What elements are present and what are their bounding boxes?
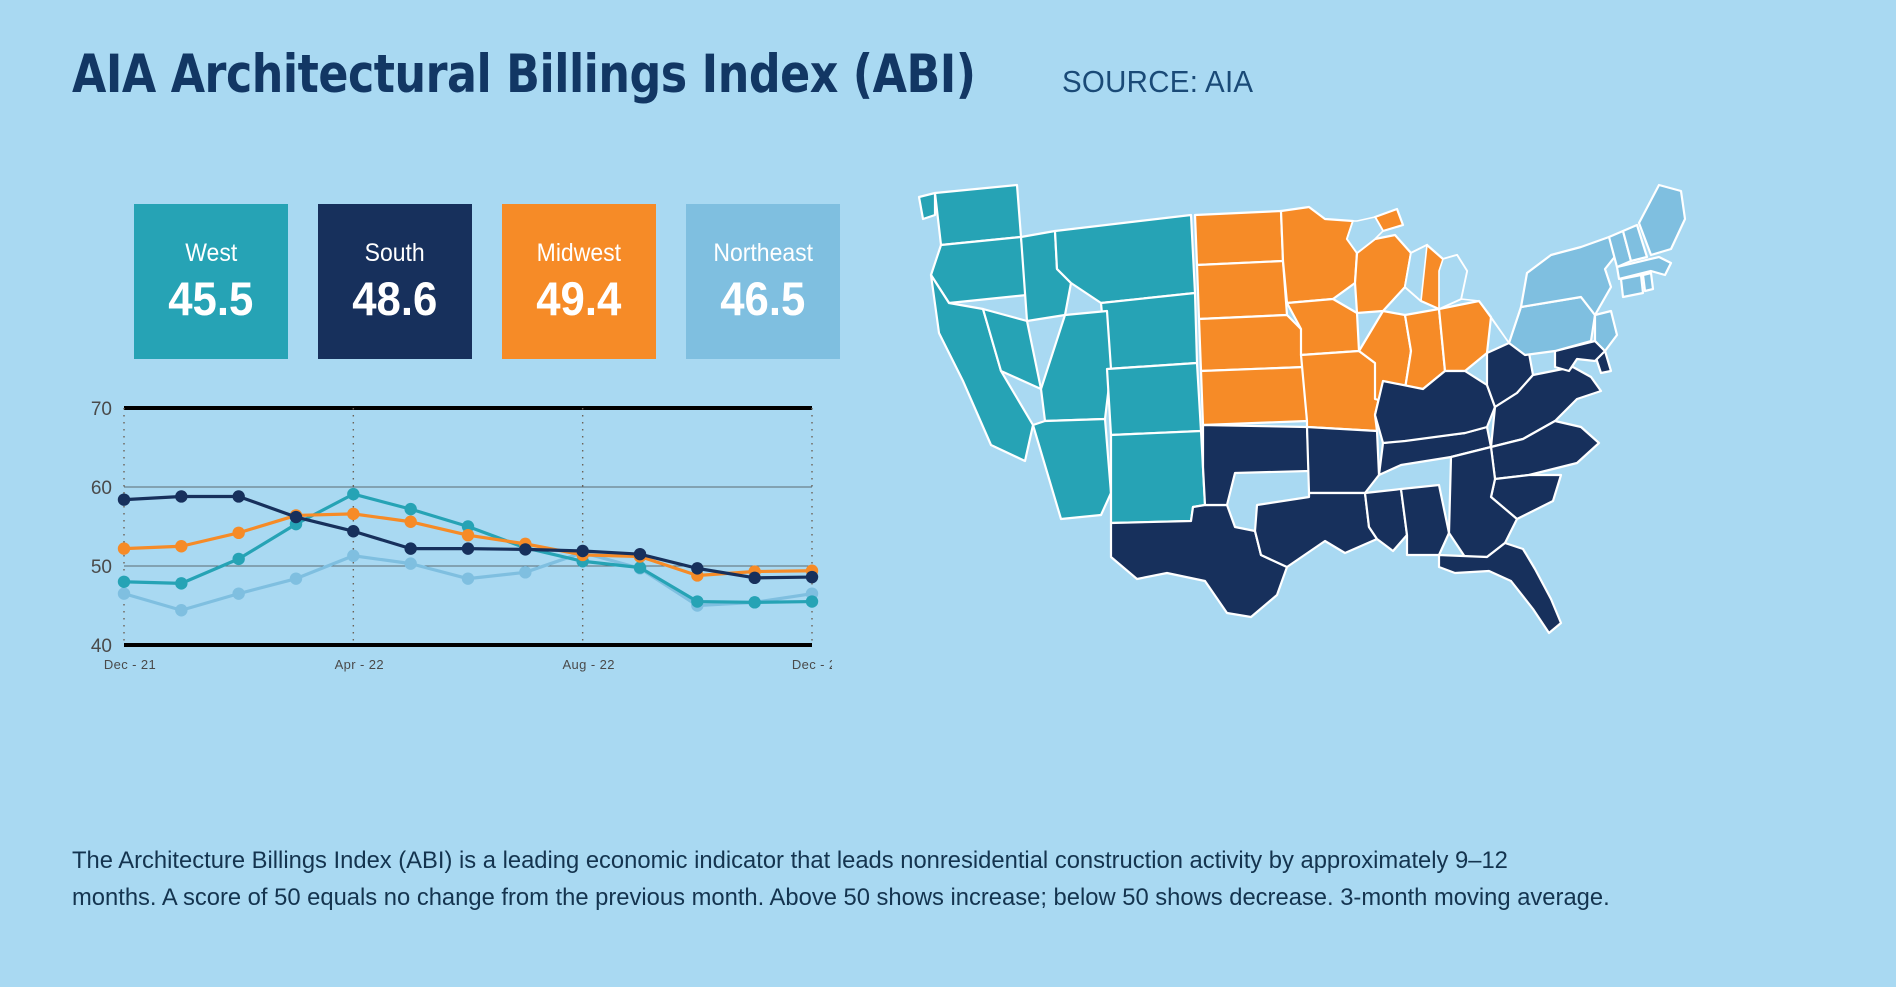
data-point — [232, 527, 244, 539]
data-point — [118, 587, 130, 599]
data-point — [806, 595, 818, 607]
data-point — [404, 503, 416, 515]
map-state-ks — [1201, 367, 1307, 425]
map-state-sd — [1197, 261, 1287, 319]
data-point — [748, 572, 760, 584]
map-state-az — [1033, 419, 1111, 519]
caption-line-1: The Architecture Billings Index (ABI) is… — [72, 843, 1779, 880]
y-axis-tick-label: 70 — [91, 399, 112, 420]
map-state-or — [931, 237, 1027, 303]
x-axis-tick-label: Apr - 22 — [335, 657, 384, 672]
data-point — [404, 516, 416, 528]
map-state-al — [1401, 485, 1449, 555]
data-point — [232, 490, 244, 502]
page-title: AIA Architectural Billings Index (ABI) — [72, 48, 976, 101]
data-point — [462, 529, 474, 541]
data-point — [347, 488, 359, 500]
map-state-nj — [1595, 311, 1617, 351]
data-point — [519, 543, 531, 555]
caption-line-2: months. A score of 50 equals no change f… — [72, 880, 1779, 917]
us-region-map — [905, 175, 1845, 645]
great-lake-3 — [1439, 255, 1467, 309]
map-state-ri — [1643, 273, 1653, 291]
data-point — [347, 550, 359, 562]
data-point — [691, 562, 703, 574]
region-cards: West45.5South48.6Midwest49.4Northeast46.… — [134, 204, 840, 359]
region-card-south: South48.6 — [318, 204, 472, 359]
region-card-west: West45.5 — [134, 204, 288, 359]
map-svg — [905, 175, 1845, 645]
data-point — [462, 542, 474, 554]
region-card-value: 49.4 — [536, 275, 621, 322]
map-state-ne — [1199, 315, 1305, 371]
data-point — [175, 540, 187, 552]
infographic-root: AIA Architectural Billings Index (ABI) S… — [0, 0, 1896, 987]
data-point — [347, 508, 359, 520]
region-card-midwest: Midwest49.4 — [502, 204, 656, 359]
data-point — [462, 572, 474, 584]
data-point — [634, 548, 646, 560]
header: AIA Architectural Billings Index (ABI) S… — [72, 48, 1263, 101]
source-label: SOURCE: AIA — [1062, 66, 1253, 97]
map-state-ok — [1203, 425, 1309, 505]
region-card-value: 48.6 — [352, 275, 437, 322]
data-point — [576, 545, 588, 557]
data-point — [175, 577, 187, 589]
map-state-me — [1639, 185, 1685, 255]
data-point — [290, 511, 302, 523]
region-card-label: Midwest — [537, 241, 621, 266]
region-card-value: 45.5 — [168, 275, 253, 322]
x-axis-tick-label: Aug - 22 — [562, 657, 614, 672]
chart-svg: 40506070Dec - 21Apr - 22Aug - 22Dec - 22 — [72, 390, 832, 700]
data-point — [404, 557, 416, 569]
region-card-label: South — [365, 241, 425, 266]
data-point — [691, 595, 703, 607]
map-state-ut — [1041, 311, 1111, 421]
data-point — [806, 571, 818, 583]
map-state-la — [1255, 493, 1377, 567]
x-axis-tick-label: Dec - 22 — [792, 657, 832, 672]
map-state-fl — [1439, 543, 1561, 633]
region-card-value: 46.5 — [720, 275, 805, 322]
data-point — [118, 542, 130, 554]
region-card-label: Northeast — [713, 241, 813, 266]
y-axis-tick-label: 50 — [91, 557, 112, 578]
map-state-mn — [1281, 207, 1357, 303]
data-point — [118, 493, 130, 505]
x-axis-tick-label: Dec - 21 — [104, 657, 156, 672]
map-state-nd — [1195, 211, 1283, 265]
map-state-oh — [1439, 301, 1491, 371]
map-state-mt — [1055, 215, 1195, 303]
map-state-ar — [1307, 427, 1379, 493]
map-state-wa — [919, 185, 1021, 245]
data-point — [748, 596, 760, 608]
map-state-mo — [1301, 351, 1383, 431]
data-point — [232, 553, 244, 565]
data-point — [347, 525, 359, 537]
map-state-co — [1107, 363, 1201, 435]
region-card-label: West — [185, 241, 237, 266]
data-point — [404, 542, 416, 554]
map-state-wy — [1101, 293, 1197, 369]
region-card-northeast: Northeast46.5 — [686, 204, 840, 359]
y-axis-tick-label: 60 — [91, 478, 112, 499]
series-northeast — [118, 546, 818, 616]
abi-line-chart: 40506070Dec - 21Apr - 22Aug - 22Dec - 22 — [72, 390, 832, 700]
y-axis-tick-label: 40 — [91, 636, 112, 657]
data-point — [290, 572, 302, 584]
map-state-nm — [1111, 431, 1205, 523]
data-point — [118, 576, 130, 588]
data-point — [175, 490, 187, 502]
data-point — [232, 587, 244, 599]
data-point — [175, 604, 187, 616]
data-point — [519, 566, 531, 578]
data-point — [634, 561, 646, 573]
caption: The Architecture Billings Index (ABI) is… — [72, 843, 1779, 917]
